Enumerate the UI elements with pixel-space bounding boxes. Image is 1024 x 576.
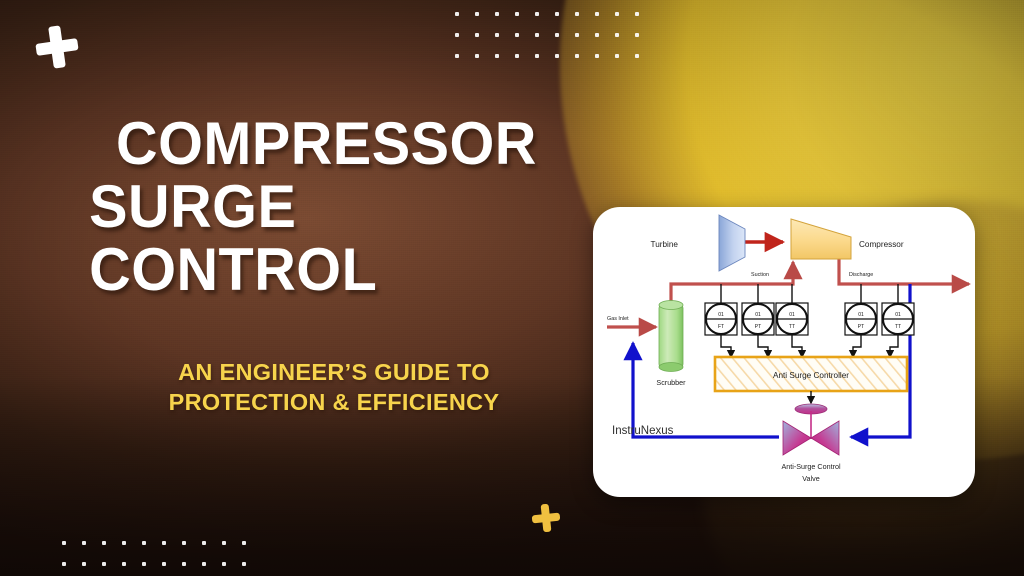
valve-label-line2: Valve	[802, 474, 819, 483]
scrubber-label: Scrubber	[656, 378, 686, 387]
svg-text:FT: FT	[718, 324, 724, 330]
instrument-pt-01-discharge: 01 PT	[845, 284, 877, 357]
discharge-label: Discharge	[849, 272, 873, 278]
svg-text:01: 01	[789, 312, 795, 318]
compressor-label: Compressor	[859, 240, 904, 249]
svg-text:TT: TT	[789, 324, 795, 330]
instrument-pt-01-suction: 01 PT	[742, 284, 774, 357]
svg-text:01: 01	[895, 312, 901, 318]
dot-grid-bottom	[62, 541, 262, 576]
controller-label: Anti Surge Controller	[773, 371, 849, 380]
plus-icon-yellow	[531, 503, 562, 534]
svg-text:01: 01	[755, 312, 761, 318]
page-subtitle: AN ENGINEER’S GUIDE TO PROTECTION & EFFI…	[124, 357, 544, 417]
valve-label-line1: Anti-Surge Control	[781, 462, 841, 471]
scrubber-vessel	[659, 301, 683, 372]
suction-label: Suction	[751, 272, 769, 278]
page-title: COMPRESSOR SURGE CONTROL	[116, 112, 567, 301]
instrument-tt-01-suction: 01 TT	[776, 284, 808, 357]
svg-text:01: 01	[718, 312, 724, 318]
page-subtitle-line2: PROTECTION & EFFICIENCY	[169, 389, 500, 415]
anti-surge-control-valve	[783, 404, 839, 455]
turbine-label: Turbine	[651, 240, 679, 249]
watermark-label: InstruNexus	[612, 425, 674, 437]
anti-surge-controller-box: Anti Surge Controller	[715, 357, 907, 391]
svg-text:PT: PT	[858, 324, 864, 330]
anti-surge-control-diagram: Turbine Compressor Suction Discharge Gas…	[593, 207, 975, 497]
poster-canvas: COMPRESSOR SURGE CONTROL AN ENGINEER’S G…	[0, 0, 1024, 576]
svg-text:01: 01	[858, 312, 864, 318]
diagram-card: Turbine Compressor Suction Discharge Gas…	[593, 207, 975, 497]
svg-text:PT: PT	[755, 324, 761, 330]
turbine-shape	[719, 215, 745, 271]
dot-grid-top	[455, 12, 655, 75]
instrument-ft-01: 01 FT	[705, 284, 737, 357]
page-title-line2: SURGE CONTROL	[89, 175, 567, 301]
page-title-line1: COMPRESSOR	[116, 110, 537, 177]
page-subtitle-line1: AN ENGINEER’S GUIDE TO	[178, 359, 490, 385]
gas-inlet-label: Gas Inlet	[607, 316, 629, 322]
svg-text:TT: TT	[895, 324, 901, 330]
compressor-shape	[791, 219, 851, 259]
plus-icon-white	[33, 23, 80, 70]
